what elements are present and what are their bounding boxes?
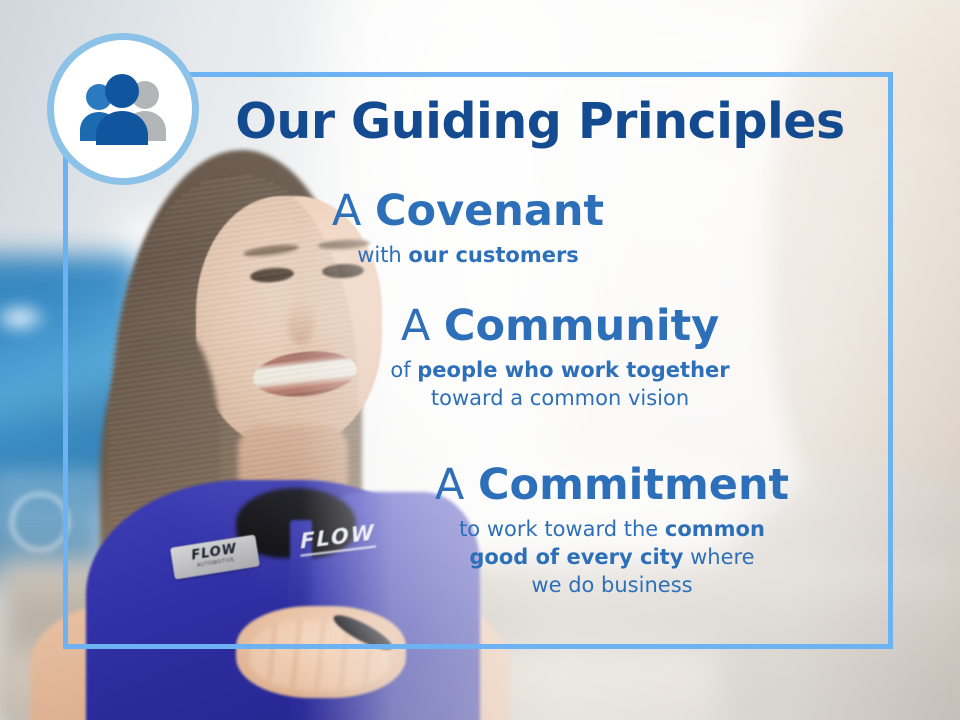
emphasis-text: common: [665, 517, 765, 541]
principle-keyword: Commitment: [478, 460, 789, 510]
emphasis-text: people who work together: [417, 358, 729, 382]
principle-keyword: Community: [444, 301, 719, 351]
people-group-icon: [69, 73, 177, 145]
principle-block-commitment: A Commitment to work toward the commongo…: [352, 462, 872, 600]
principle-subtext-line: of people who work together: [300, 357, 820, 385]
plain-text: with: [357, 243, 408, 267]
people-group-badge: [47, 33, 199, 185]
principle-heading: A Commitment: [352, 462, 872, 508]
principle-article: A: [401, 301, 430, 351]
principle-article: A: [435, 460, 464, 510]
principle-subtext-line: we do business: [352, 572, 872, 600]
principle-subtext: to work toward the commongood of every c…: [352, 516, 872, 600]
plain-text: where: [683, 545, 754, 569]
emphasis-text: our customers: [408, 243, 578, 267]
plain-text: to work toward the: [459, 517, 665, 541]
principle-article: A: [332, 186, 361, 236]
principle-subtext-line: to work toward the common: [352, 516, 872, 544]
plain-text: we do business: [531, 573, 692, 597]
principle-subtext: with our customers: [238, 242, 698, 270]
principle-subtext: of people who work togethertoward a comm…: [300, 357, 820, 413]
plain-text: toward a common vision: [431, 386, 689, 410]
plain-text: of: [390, 358, 417, 382]
principle-subtext-line: good of every city where: [352, 544, 872, 572]
emphasis-text: good of every city: [469, 545, 683, 569]
poster-canvas: FLOW AUTOMOTIVE FLOW: [0, 0, 960, 720]
principle-heading: A Community: [300, 303, 820, 349]
principle-subtext-line: with our customers: [238, 242, 698, 270]
principle-subtext-line: toward a common vision: [300, 385, 820, 413]
principle-keyword: Covenant: [375, 186, 604, 236]
page-title: Our Guiding Principles: [200, 96, 880, 147]
principle-heading: A Covenant: [238, 188, 698, 234]
principle-block-covenant: A Covenant with our customers: [238, 188, 698, 270]
principle-block-community: A Community of people who work togethert…: [300, 303, 820, 413]
